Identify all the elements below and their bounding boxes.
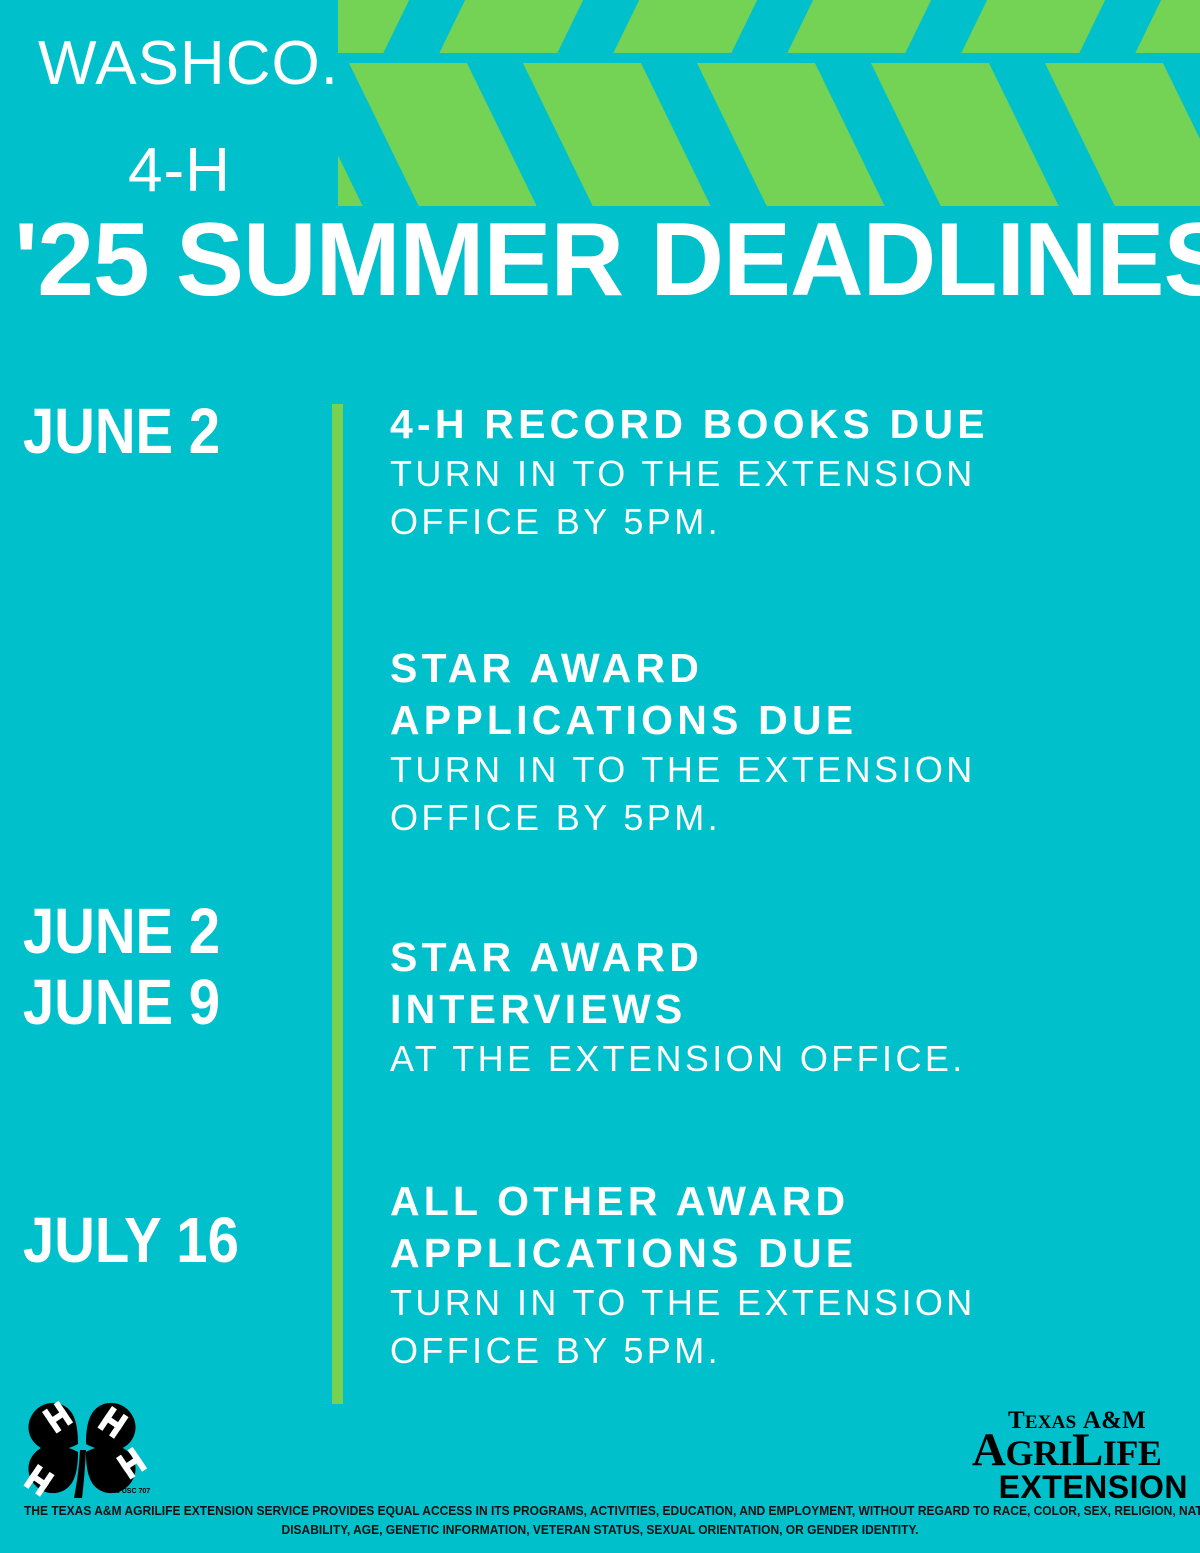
chevron-shape xyxy=(959,0,1107,53)
deadline-date: JUNE 2 xyxy=(0,398,297,466)
deadline-body: 4-H RECORD BOOKS DUE TURN IN TO THE EXTE… xyxy=(338,398,1200,545)
deadline-date: JUNE 9 xyxy=(0,969,297,1037)
deadline-detail-line1: TURN IN TO THE EXTENSION xyxy=(390,1279,1186,1327)
org-name-line1: WASHCO. xyxy=(38,33,339,95)
deadline-detail-line2: OFFICE BY 5PM. xyxy=(390,498,1186,546)
deadline-title: 4-H RECORD BOOKS DUE xyxy=(390,398,1186,450)
deadline-title-line1: STAR AWARD xyxy=(390,642,1186,694)
disclaimer-line2: DISABILITY, AGE, GENETIC INFORMATION, VE… xyxy=(24,1521,1176,1540)
four-h-clover-icon: 18 USC 707 xyxy=(16,1382,152,1506)
chevron-shape xyxy=(695,63,891,206)
deadline-detail-line2: OFFICE BY 5PM. xyxy=(390,794,1186,842)
chevron-shape xyxy=(347,63,543,206)
poster-canvas: WASHCO. 4-H '25 SUMMER DEADLINES JUNE 2 … xyxy=(0,0,1200,1553)
chevron-shape xyxy=(338,63,369,206)
deadline-title-line2: APPLICATIONS DUE xyxy=(390,694,1186,746)
deadline-title-line1: ALL OTHER AWARD xyxy=(390,1175,1186,1227)
chevron-row-bottom xyxy=(338,63,1200,206)
clover-trademark-mark: 18 USC 707 xyxy=(112,1488,150,1495)
deadline-body: STAR AWARD INTERVIEWS AT THE EXTENSION O… xyxy=(338,931,1200,1083)
deadline-detail-line1: AT THE EXTENSION OFFICE. xyxy=(390,1035,1186,1083)
chevron-shape xyxy=(521,63,717,206)
chevron-row-top xyxy=(338,0,1200,53)
chevron-shape xyxy=(869,63,1065,206)
deadline-body: ALL OTHER AWARD APPLICATIONS DUE TURN IN… xyxy=(338,1175,1200,1374)
deadline-title-line2: INTERVIEWS xyxy=(390,983,1186,1035)
deadline-detail-line1: TURN IN TO THE EXTENSION xyxy=(390,746,1186,794)
deadline-row: JUNE 2 4-H RECORD BOOKS DUE TURN IN TO T… xyxy=(0,398,1200,642)
chevron-shape xyxy=(1043,63,1200,206)
logo-gri: GRI xyxy=(1005,1433,1072,1473)
agrilife-extension-logo: TEXAS A&M AGRILIFE EXTENSION xyxy=(972,1408,1188,1503)
deadline-row: JULY 16 ALL OTHER AWARD APPLICATIONS DUE… xyxy=(0,1175,1200,1435)
chevron-shape xyxy=(338,0,411,53)
deadline-row: JUNE 9 STAR AWARD INTERVIEWS AT THE EXTE… xyxy=(0,931,1200,1175)
disclaimer-line1: THE TEXAS A&M AGRILIFE EXTENSION SERVICE… xyxy=(24,1502,1176,1521)
deadline-date: JULY 16 xyxy=(0,1207,297,1275)
deadline-detail-line2: OFFICE BY 5PM. xyxy=(390,1327,1186,1375)
deadline-title-line2: APPLICATIONS DUE xyxy=(390,1227,1186,1279)
deadline-date: JUNE 2 xyxy=(0,642,297,966)
org-name-line2: 4-H xyxy=(128,140,231,202)
deadlines-list: JUNE 2 4-H RECORD BOOKS DUE TURN IN TO T… xyxy=(0,398,1200,1435)
logo-agrilife-line: AGRILIFE xyxy=(972,1427,1188,1474)
deadline-title-line1: STAR AWARD xyxy=(390,931,1186,983)
chevron-shape xyxy=(785,0,933,53)
deadline-detail-line1: TURN IN TO THE EXTENSION xyxy=(390,450,1186,498)
chevron-pattern xyxy=(338,0,1200,206)
logo-extension-line: EXTENSION xyxy=(972,1471,1188,1503)
chevron-shape xyxy=(611,0,759,53)
equal-access-disclaimer: THE TEXAS A&M AGRILIFE EXTENSION SERVICE… xyxy=(24,1502,1176,1541)
logo-ife: IFE xyxy=(1103,1433,1162,1473)
deadline-body: STAR AWARD APPLICATIONS DUE TURN IN TO T… xyxy=(338,642,1200,841)
chevron-shape xyxy=(437,0,585,53)
chevron-shape xyxy=(1133,0,1200,53)
page-title: '25 SUMMER DEADLINES xyxy=(14,208,1170,312)
deadline-row: JUNE 2 STAR AWARD APPLICATIONS DUE TURN … xyxy=(0,642,1200,931)
